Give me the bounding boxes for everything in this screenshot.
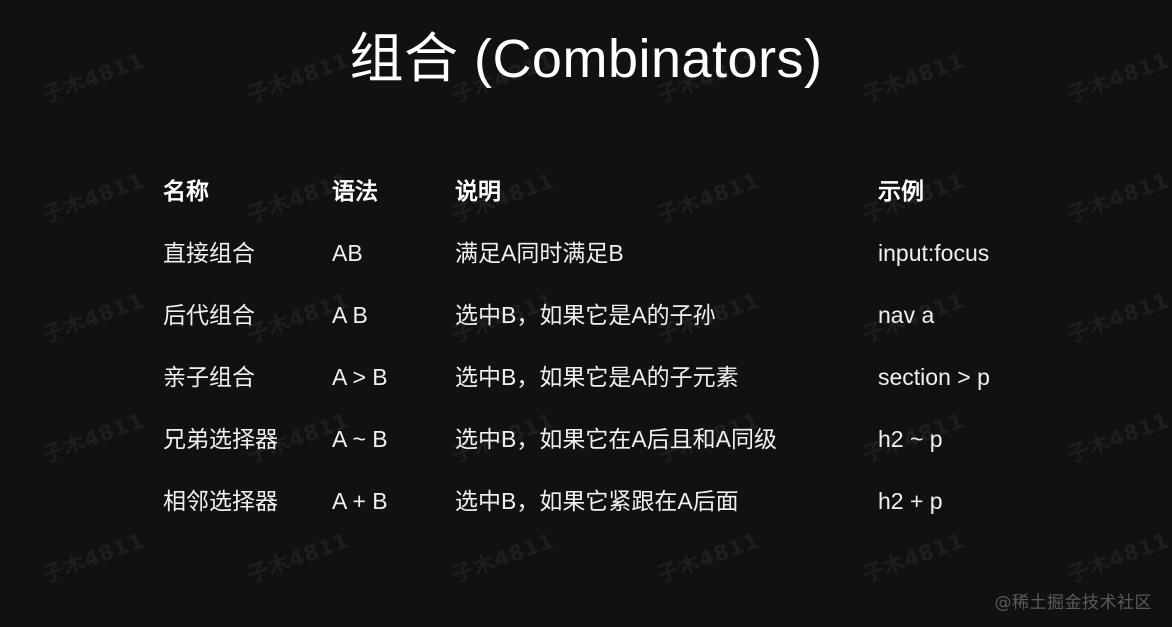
cell-name: 后代组合 [163,300,332,330]
cell-example: nav a [878,300,1043,330]
cell-syntax: A ~ B [332,424,455,454]
cell-name: 相邻选择器 [163,486,332,516]
column-header-name: 名称 [163,176,332,206]
background-watermark: 子木4811 [37,164,147,229]
cell-description: 选中B，如果它是A的子孙 [455,300,878,330]
background-watermark: 子木4811 [37,284,147,349]
background-watermark: 子木4811 [37,404,147,469]
background-watermark: 子木4811 [1062,404,1172,469]
cell-syntax: A B [332,300,455,330]
slide-root: 子木4811子木4811子木4811子木4811子木4811子木4811子木48… [0,0,1172,627]
table-row: 兄弟选择器 A ~ B 选中B，如果它在A后且和A同级 h2 ~ p [163,424,1043,486]
cell-name: 直接组合 [163,238,332,268]
cell-description: 满足A同时满足B [455,238,878,268]
table-row: 相邻选择器 A + B 选中B，如果它紧跟在A后面 h2 + p [163,486,1043,548]
background-watermark: 子木4811 [1062,524,1172,589]
column-header-example: 示例 [878,176,1043,206]
page-title: 组合 (Combinators) [0,26,1172,94]
cell-syntax: AB [332,238,455,268]
combinators-table: 名称 语法 说明 示例 直接组合 AB 满足A同时满足B input:focus… [163,176,1043,548]
cell-syntax: A + B [332,486,455,516]
background-watermark: 子木4811 [37,524,147,589]
background-watermark: 子木4811 [1062,164,1172,229]
corner-watermark: @稀土掘金技术社区 [995,588,1153,613]
column-header-description: 说明 [455,176,878,206]
table-row: 后代组合 A B 选中B，如果它是A的子孙 nav a [163,300,1043,362]
cell-description: 选中B，如果它是A的子元素 [455,362,878,392]
cell-name: 兄弟选择器 [163,424,332,454]
cell-description: 选中B，如果它在A后且和A同级 [455,424,878,454]
cell-example: section > p [878,362,1043,392]
cell-syntax: A > B [332,362,455,392]
table-header-row: 名称 语法 说明 示例 [163,176,1043,238]
table-row: 亲子组合 A > B 选中B，如果它是A的子元素 section > p [163,362,1043,424]
column-header-syntax: 语法 [332,176,455,206]
cell-example: h2 ~ p [878,424,1043,454]
cell-example: h2 + p [878,486,1043,516]
cell-example: input:focus [878,238,1043,268]
cell-name: 亲子组合 [163,362,332,392]
cell-description: 选中B，如果它紧跟在A后面 [455,486,878,516]
background-watermark: 子木4811 [1062,284,1172,349]
table-row: 直接组合 AB 满足A同时满足B input:focus [163,238,1043,300]
